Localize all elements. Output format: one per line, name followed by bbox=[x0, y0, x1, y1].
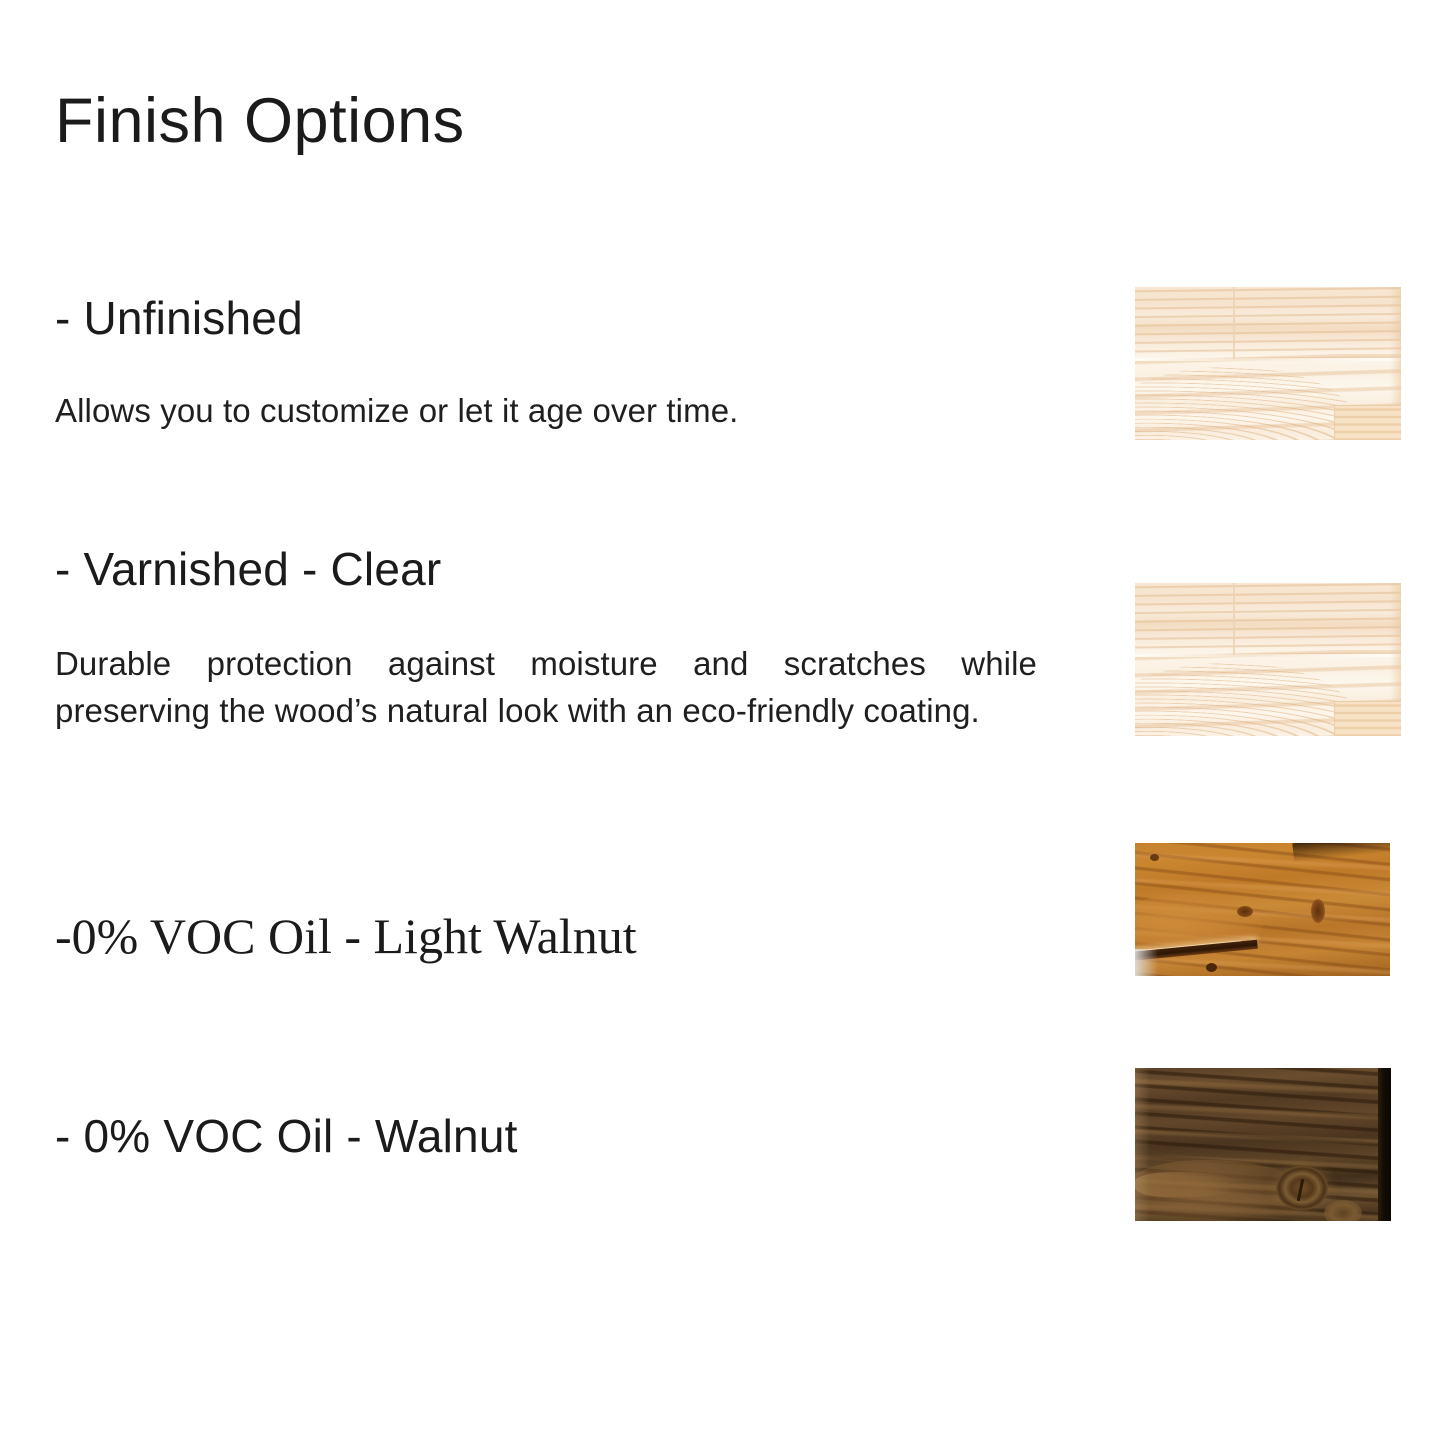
option-heading-varnished-clear: - Varnished - Clear bbox=[55, 543, 441, 596]
page-title: Finish Options bbox=[55, 88, 465, 154]
wood-knot-icon bbox=[1276, 1166, 1328, 1210]
wood-grain-fine-layer bbox=[1135, 287, 1401, 359]
option-description-varnished-clear: Durable protection against moisture and … bbox=[55, 641, 1037, 735]
walnut-swatch bbox=[1135, 1068, 1391, 1221]
wood-board-break bbox=[1233, 583, 1235, 655]
option-heading-light-walnut: -0% VOC Oil - Light Walnut bbox=[55, 908, 637, 966]
finish-options-page: Finish Options - Unfinished Allows you t… bbox=[0, 0, 1445, 1445]
wood-corner-block bbox=[1334, 701, 1402, 736]
varnished-clear-swatch bbox=[1135, 583, 1401, 736]
option-heading-walnut: - 0% VOC Oil - Walnut bbox=[55, 1110, 518, 1163]
wood-plank-seam bbox=[1135, 654, 1401, 657]
wood-left-edge-highlight bbox=[1135, 1068, 1150, 1221]
wood-knot-icon bbox=[1311, 899, 1325, 923]
wood-left-edge-highlight bbox=[1135, 949, 1158, 976]
wood-board-break bbox=[1233, 287, 1235, 359]
unfinished-pine-swatch bbox=[1135, 287, 1401, 440]
wood-grain-fine-layer bbox=[1135, 583, 1401, 655]
option-description-unfinished: Allows you to customize or let it age ov… bbox=[55, 388, 1035, 435]
wood-knot-icon bbox=[1237, 906, 1253, 917]
wood-corner-block bbox=[1334, 405, 1402, 440]
wood-right-dark-edge bbox=[1378, 1068, 1391, 1221]
wood-plank-seam bbox=[1135, 358, 1401, 361]
option-heading-unfinished: - Unfinished bbox=[55, 292, 303, 345]
wood-knot-icon bbox=[1150, 854, 1159, 861]
light-walnut-swatch bbox=[1135, 843, 1390, 976]
